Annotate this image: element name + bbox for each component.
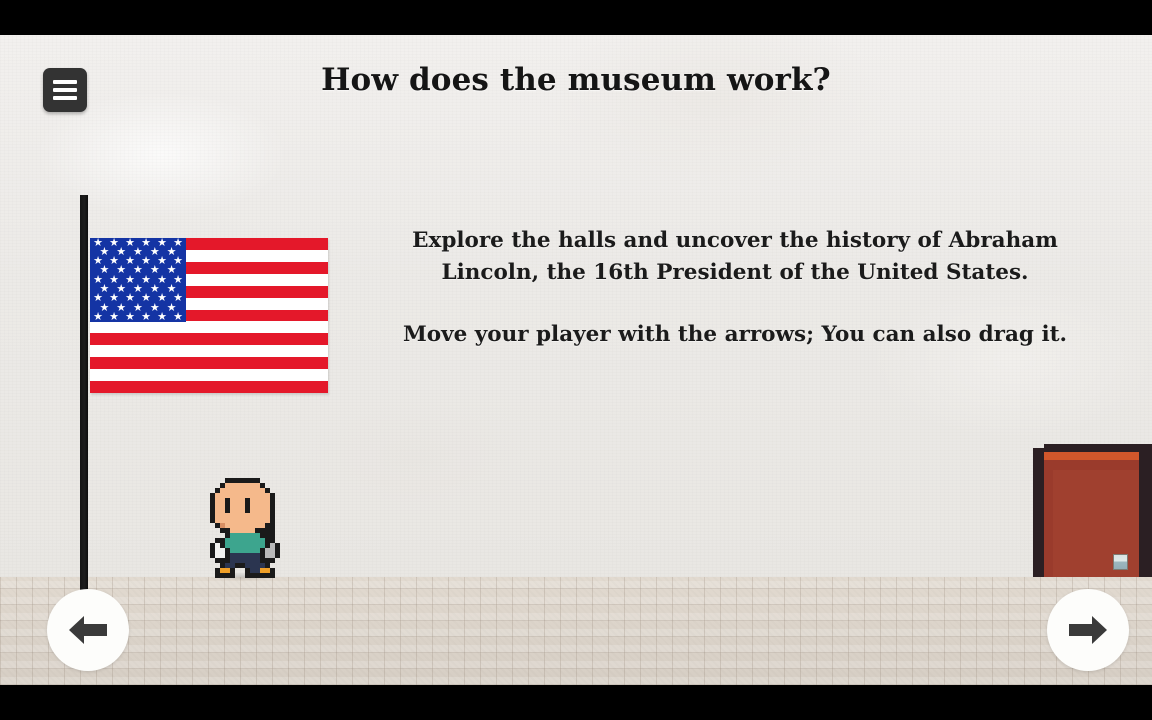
player-pixel: [230, 573, 235, 578]
player-pixel: [270, 558, 275, 563]
nav-next-button[interactable]: [1047, 589, 1129, 671]
flag-star-icon: ★: [141, 312, 151, 322]
flag-canton: ★★★★★★★★★★★★★★★★★★★★★★★★★★★★★★★★★★★★★★★★…: [90, 238, 186, 322]
hamburger-icon-bar-1: [53, 80, 77, 84]
flag-pole: [80, 195, 88, 605]
door-top-accent: [1044, 452, 1139, 460]
page-title: How does the museum work?: [0, 62, 1152, 98]
intro-text-block: Explore the halls and uncover the histor…: [380, 225, 1090, 351]
flag-star-row: ★★★★★★: [90, 312, 186, 321]
flag-star-icon: ★: [109, 312, 119, 322]
flag-stripe: [90, 369, 328, 381]
door-frame-right: [1139, 444, 1152, 577]
flag-stripe: [90, 345, 328, 357]
exit-door[interactable]: [1033, 444, 1152, 577]
intro-paragraph-2: Move your player with the arrows; You ca…: [380, 319, 1090, 351]
player-pixel: [275, 553, 280, 558]
letterbox-bottom: [0, 685, 1152, 720]
flag-star-row: ★★★★★: [90, 284, 186, 293]
letterbox-top: [0, 0, 1152, 35]
player-character[interactable]: [210, 478, 280, 578]
flag-stripe: [90, 321, 328, 333]
flag-star-row: ★★★★★: [90, 266, 186, 275]
door-top-shadow: [1044, 444, 1142, 452]
hamburger-icon-bar-3: [53, 96, 77, 100]
flag-stripe: [90, 333, 328, 345]
museum-scene: How does the museum work? Explore the ha…: [0, 35, 1152, 685]
door-handle: [1113, 554, 1128, 570]
flag-star-icon: ★: [173, 312, 183, 322]
arrow-left-icon: [65, 610, 111, 650]
hamburger-icon-bar-2: [53, 88, 77, 92]
intro-paragraph-1: Explore the halls and uncover the histor…: [380, 225, 1090, 289]
nav-prev-button[interactable]: [47, 589, 129, 671]
flag-star-icon: ★: [125, 312, 135, 322]
game-screen: How does the museum work? Explore the ha…: [0, 0, 1152, 720]
player-pixel: [270, 573, 275, 578]
menu-button[interactable]: [43, 68, 87, 112]
flag-star-icon: ★: [93, 312, 103, 322]
flag-star-icon: ★: [157, 312, 167, 322]
flag-banner: ★★★★★★★★★★★★★★★★★★★★★★★★★★★★★★★★★★★★★★★★…: [90, 238, 328, 393]
flag-stripe: [90, 381, 328, 393]
flag-stripe: [90, 357, 328, 369]
flag-star-row: ★★★★★: [90, 247, 186, 256]
flag-star-row: ★★★★★: [90, 303, 186, 312]
arrow-right-icon: [1065, 610, 1111, 650]
